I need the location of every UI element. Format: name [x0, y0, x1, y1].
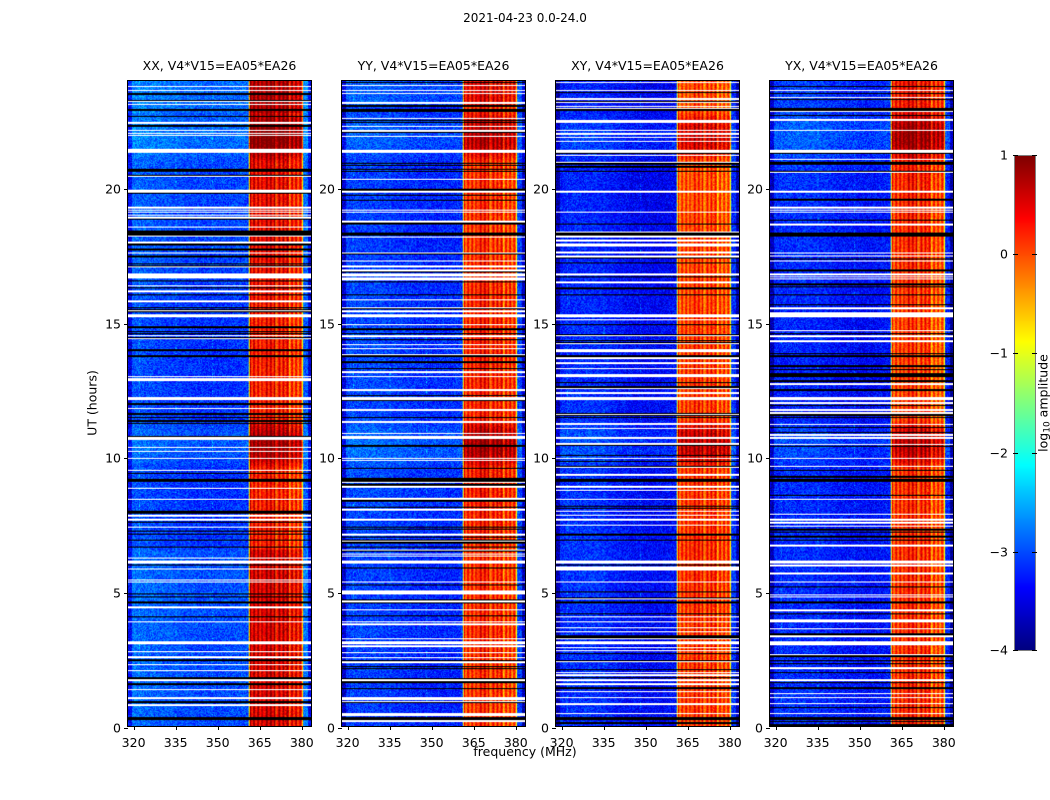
y-tick-mark	[552, 189, 556, 190]
colorbar-tick-mark	[1032, 254, 1037, 255]
colorbar-label-tail: amplitude	[1036, 354, 1050, 421]
x-tick-mark	[260, 726, 261, 730]
colorbar-tick-mark	[1013, 353, 1018, 354]
y-tick-mark	[124, 728, 128, 729]
x-tick-label: 335	[378, 735, 402, 750]
x-tick-label: 365	[890, 735, 914, 750]
waterfall-image-yy	[342, 81, 525, 726]
colorbar[interactable]: −4−3−2−101	[1014, 155, 1036, 651]
panel-xx[interactable]: XX, V4*V15=EA05*EA26 3203353503653800510…	[127, 80, 312, 727]
y-tick-mark	[338, 593, 342, 594]
x-tick-label: 365	[676, 735, 700, 750]
x-tick-mark	[432, 726, 433, 730]
colorbar-tick-label: 0	[1000, 247, 1008, 262]
x-tick-mark	[776, 726, 777, 730]
colorbar-tick-mark	[1032, 453, 1037, 454]
x-tick-label: 350	[848, 735, 872, 750]
colorbar-tick-mark	[1032, 155, 1037, 156]
x-tick-label: 335	[806, 735, 830, 750]
colorbar-tick-mark	[1013, 650, 1018, 651]
x-tick-label: 380	[290, 735, 314, 750]
y-tick-label: 0	[755, 721, 763, 736]
colorbar-tick-mark	[1032, 552, 1037, 553]
x-tick-label: 335	[592, 735, 616, 750]
y-axis-label: UT (hours)	[85, 370, 100, 436]
panel-title-xx: XX, V4*V15=EA05*EA26	[143, 58, 297, 73]
waterfall-image-xy	[556, 81, 739, 726]
y-tick-mark	[552, 324, 556, 325]
y-tick-label: 10	[533, 451, 549, 466]
y-tick-label: 5	[113, 586, 121, 601]
panel-title-yy: YY, V4*V15=EA05*EA26	[358, 58, 510, 73]
colorbar-label: log10 amplitude	[1036, 354, 1050, 452]
x-tick-mark	[474, 726, 475, 730]
y-tick-mark	[766, 728, 770, 729]
x-tick-mark	[390, 726, 391, 730]
colorbar-tick-mark	[1013, 552, 1018, 553]
colorbar-tick-mark	[1013, 155, 1018, 156]
colorbar-tick-mark	[1013, 453, 1018, 454]
y-tick-label: 15	[533, 316, 549, 331]
x-tick-mark	[944, 726, 945, 730]
y-tick-mark	[124, 324, 128, 325]
x-tick-label: 380	[504, 735, 528, 750]
y-tick-label: 10	[319, 451, 335, 466]
figure-suptitle: 2021-04-23 0.0-24.0	[0, 11, 1050, 25]
panel-yx[interactable]: YX, V4*V15=EA05*EA26 3203353503653800510…	[769, 80, 954, 727]
x-tick-mark	[902, 726, 903, 730]
x-tick-mark	[562, 726, 563, 730]
panel-title-yx: YX, V4*V15=EA05*EA26	[785, 58, 938, 73]
x-tick-label: 320	[122, 735, 146, 750]
x-tick-mark	[818, 726, 819, 730]
x-tick-mark	[860, 726, 861, 730]
colorbar-tick-mark	[1013, 254, 1018, 255]
y-tick-mark	[766, 324, 770, 325]
x-tick-mark	[176, 726, 177, 730]
x-tick-label: 335	[164, 735, 188, 750]
waterfall-image-yx	[770, 81, 953, 726]
x-tick-label: 350	[634, 735, 658, 750]
x-tick-label: 380	[718, 735, 742, 750]
colorbar-tick-label: −2	[990, 445, 1008, 460]
y-tick-label: 20	[319, 181, 335, 196]
x-tick-label: 350	[420, 735, 444, 750]
y-tick-mark	[552, 458, 556, 459]
y-tick-mark	[338, 458, 342, 459]
x-tick-label: 350	[206, 735, 230, 750]
y-tick-label: 15	[319, 316, 335, 331]
x-tick-mark	[604, 726, 605, 730]
x-tick-label: 380	[932, 735, 956, 750]
x-tick-label: 320	[336, 735, 360, 750]
y-tick-mark	[552, 728, 556, 729]
y-tick-label: 10	[747, 451, 763, 466]
y-tick-label: 5	[541, 586, 549, 601]
y-tick-label: 0	[113, 721, 121, 736]
y-tick-mark	[338, 728, 342, 729]
colorbar-tick-label: −1	[990, 346, 1008, 361]
x-tick-mark	[302, 726, 303, 730]
colorbar-tick-label: −4	[990, 643, 1008, 658]
colorbar-tick-label: 1	[1000, 148, 1008, 163]
y-tick-mark	[338, 324, 342, 325]
y-tick-label: 20	[105, 181, 121, 196]
waterfall-image-xx	[128, 81, 311, 726]
colorbar-tick-mark	[1032, 650, 1037, 651]
x-tick-mark	[516, 726, 517, 730]
y-tick-mark	[552, 593, 556, 594]
y-tick-mark	[766, 593, 770, 594]
y-tick-label: 10	[105, 451, 121, 466]
colorbar-canvas	[1015, 156, 1035, 650]
y-tick-label: 15	[747, 316, 763, 331]
x-tick-label: 365	[248, 735, 272, 750]
panel-title-xy: XY, V4*V15=EA05*EA26	[571, 58, 724, 73]
x-tick-label: 320	[764, 735, 788, 750]
y-tick-label: 20	[533, 181, 549, 196]
panel-xy[interactable]: XY, V4*V15=EA05*EA26 3203353503653800510…	[555, 80, 740, 727]
colorbar-label-main: log	[1036, 433, 1050, 452]
y-tick-label: 5	[755, 586, 763, 601]
y-tick-mark	[766, 458, 770, 459]
y-tick-label: 5	[327, 586, 335, 601]
panel-yy[interactable]: YY, V4*V15=EA05*EA26 3203353503653800510…	[341, 80, 526, 727]
y-tick-mark	[124, 593, 128, 594]
y-tick-mark	[766, 189, 770, 190]
x-tick-mark	[348, 726, 349, 730]
figure-canvas: 2021-04-23 0.0-24.0 UT (hours) frequency…	[0, 0, 1050, 800]
x-tick-mark	[688, 726, 689, 730]
y-tick-mark	[124, 458, 128, 459]
y-tick-label: 0	[541, 721, 549, 736]
y-tick-label: 15	[105, 316, 121, 331]
x-tick-label: 320	[550, 735, 574, 750]
x-tick-mark	[134, 726, 135, 730]
y-tick-label: 20	[747, 181, 763, 196]
colorbar-label-subscript: 10	[1043, 421, 1050, 432]
y-tick-mark	[338, 189, 342, 190]
colorbar-gradient	[1014, 155, 1036, 651]
x-tick-mark	[730, 726, 731, 730]
y-tick-label: 0	[327, 721, 335, 736]
x-tick-label: 365	[462, 735, 486, 750]
colorbar-tick-label: −3	[990, 544, 1008, 559]
x-tick-mark	[646, 726, 647, 730]
y-tick-mark	[124, 189, 128, 190]
x-tick-mark	[218, 726, 219, 730]
